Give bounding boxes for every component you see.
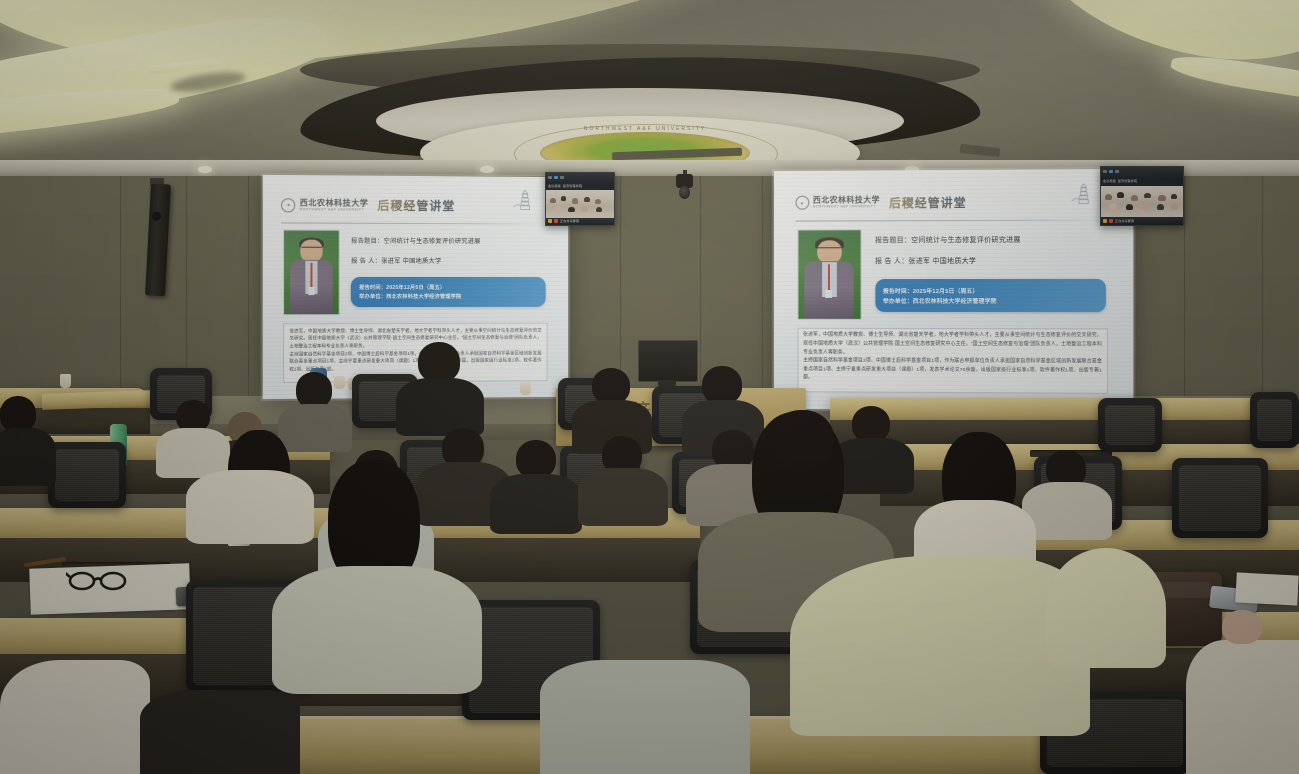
maximize-icon[interactable]	[554, 176, 558, 179]
bio-paragraph: 主持国家自然科学基金项目2项、中国博士后科学基金项目1项，作为联合申报单位负责人…	[803, 358, 1102, 385]
seminar-slide: ★ 西北农林科技大学 NORTHWEST A&F UNIVERSITY 后稷经管…	[263, 175, 568, 399]
office-chair	[48, 442, 126, 508]
desk-row	[830, 398, 1299, 422]
maximize-icon[interactable]	[1109, 170, 1113, 173]
lecture-series-title: 后稷经管讲堂	[377, 197, 455, 214]
university-name-cn: 西北农林科技大学	[300, 199, 369, 207]
pagoda-landmark-icon	[1071, 181, 1097, 207]
university-name-en: NORTHWEST A&F UNIVERSITY	[813, 206, 880, 209]
record-icon[interactable]	[554, 219, 558, 223]
slide-header: ★ 西北农林科技大学 NORTHWEST A&F UNIVERSITY 后稷经管…	[795, 184, 1115, 221]
projection-screen-left: ★ 西北农林科技大学 NORTHWEST A&F UNIVERSITY 后稷经管…	[263, 175, 568, 399]
video-conference-window[interactable]: 会议视频 经济管理学院 正在共享屏幕	[1100, 166, 1184, 226]
minimize-icon[interactable]	[1103, 170, 1107, 173]
paper-cup	[60, 374, 71, 388]
emblem-label: NORTHWEST A&F UNIVERSITY	[530, 126, 760, 132]
paper-cup	[334, 376, 345, 389]
speaker-driver-icon	[152, 212, 161, 221]
eyeglasses-on-desk	[66, 568, 132, 592]
university-crest-icon: ★	[795, 196, 809, 210]
slide-time-line: 报告时间：2025年12月5日（周五）	[359, 284, 538, 291]
office-chair	[1250, 392, 1299, 448]
slide-speaker-line: 报 告 人：张进军 中国地质大学	[875, 256, 976, 266]
vc-title-bar[interactable]	[1101, 167, 1183, 177]
warning-icon	[548, 219, 552, 223]
paper-cup	[520, 382, 531, 395]
minimize-icon[interactable]	[548, 176, 552, 179]
downlight-icon	[198, 166, 212, 173]
vc-status-tag: 正在共享屏幕	[560, 219, 579, 223]
slide-host-line: 举办单位：西北农林科技大学经济管理学院	[359, 293, 538, 300]
slide-topic-line: 报告题目：空间统计与生态修复评价研究进展	[875, 235, 1021, 245]
university-crest-icon: ★	[281, 198, 295, 212]
office-chair	[1098, 398, 1162, 452]
warning-icon	[1103, 219, 1107, 223]
vc-subtitle-bar: 会议视频 经济管理学院	[1101, 177, 1183, 186]
seminar-slide: ★ 西北农林科技大学 NORTHWEST A&F UNIVERSITY 后稷经管…	[774, 169, 1133, 411]
slide-topic-line: 报告题目：空间统计与生态修复评价研究进展	[351, 236, 481, 245]
speaker-portrait	[283, 230, 339, 315]
slide-info-banner: 报告时间：2025年12月5日（周五） 举办单位：西北农林科技大学经济管理学院	[875, 279, 1106, 312]
vc-status-tag: 正在共享屏幕	[1115, 219, 1134, 223]
slide-time-line: 报告时间：2025年12月5日（周五）	[883, 286, 1098, 295]
speaker-portrait	[797, 229, 861, 319]
lecture-hall-photo: NORTHWEST A&F UNIVERSITY ★ 西北农林科技大学 NORT…	[0, 0, 1299, 774]
slide-host-line: 举办单位：西北农林科技大学经济管理学院	[883, 296, 1098, 305]
vc-title-bar[interactable]	[546, 173, 614, 182]
slide-divider	[281, 222, 553, 224]
record-icon[interactable]	[1109, 219, 1113, 223]
remote-audience-feed	[1101, 186, 1183, 217]
lecture-series-title: 后稷经管讲堂	[889, 194, 967, 211]
slide-info-banner: 报告时间：2025年12月5日（周五） 举办单位：西北农林科技大学经济管理学院	[351, 277, 546, 307]
vc-status-bar[interactable]: 正在共享屏幕	[546, 218, 614, 225]
paper-sheet	[1235, 572, 1298, 605]
slide-divider	[795, 220, 1115, 222]
close-icon[interactable]	[1115, 170, 1119, 173]
vc-window-title: 会议视频	[548, 184, 561, 188]
vc-subtitle: 经济管理学院	[1118, 179, 1137, 183]
slide-bio-box: 张进军，中国地质大学教授、博士生导师、湖北省楚天学者，地大学者学科带头人才，主要…	[797, 328, 1108, 394]
slide-speaker-line: 报 告 人：张进军 中国地质大学	[351, 256, 441, 265]
bio-paragraph: 主持国家自然科学基金项目2项、中国博士后科学基金项目1项，作为联合申报单位负责人…	[289, 349, 541, 373]
vc-subtitle-bar: 会议视频 经济管理学院	[546, 182, 614, 190]
university-name-en: NORTHWEST A&F UNIVERSITY	[300, 208, 369, 212]
remote-audience-feed	[546, 190, 614, 218]
video-conference-window[interactable]: 会议视频 经济管理学院 正在共享屏幕	[545, 172, 615, 226]
camera-lens-icon	[679, 186, 690, 199]
close-icon[interactable]	[560, 176, 564, 179]
vc-status-bar[interactable]: 正在共享屏幕	[1101, 217, 1183, 225]
bio-paragraph: 张进军，中国地质大学教授、博士生导师、湖北省楚天学者，地大学者学科带头人才，主要…	[803, 332, 1102, 359]
downlight-icon	[480, 166, 494, 173]
bio-paragraph: 张进军，中国地质大学教授、博士生导师、湖北省楚天学者，地大学者学科带头人才，主要…	[289, 326, 541, 350]
projection-screen-right: ★ 西北农林科技大学 NORTHWEST A&F UNIVERSITY 后稷经管…	[774, 169, 1133, 411]
office-chair	[1172, 458, 1268, 538]
vc-subtitle: 经济管理学院	[563, 184, 582, 188]
podium-monitor	[638, 340, 698, 382]
pagoda-landmark-icon	[513, 188, 539, 214]
vc-window-title: 会议视频	[1103, 179, 1116, 183]
